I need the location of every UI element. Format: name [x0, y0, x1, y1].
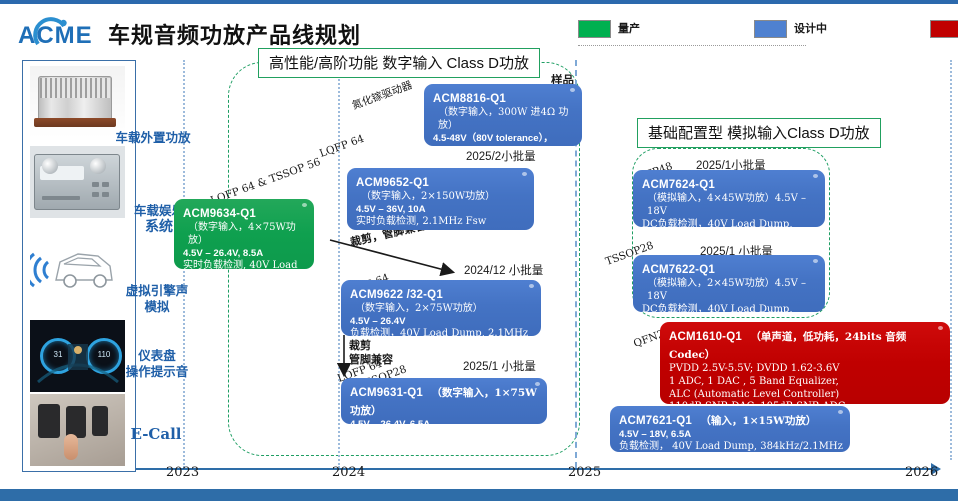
- product-spec-line: （模拟输入，2×45W功放）4.5V – 18V: [642, 278, 818, 304]
- label-line2: 模拟: [144, 299, 169, 314]
- card-gloss: [522, 172, 527, 176]
- card-gloss: [813, 259, 818, 263]
- product-spec-line: （模拟输入，4×45W功放）4.5V – 18V: [642, 193, 818, 219]
- product-part-number: ACM8816-Q1: [433, 93, 506, 105]
- product-part-number: ACM9634-Q1: [183, 208, 256, 220]
- product-part-number: ACM9631-Q1: [350, 387, 423, 399]
- car-radio-photo: [30, 146, 125, 218]
- application-label-external-amp: 车载外置功放: [113, 130, 193, 146]
- product-spec-line: （数字输入，4×75W功放）: [183, 222, 307, 248]
- card-gloss: [570, 88, 575, 92]
- overhead-console-buttons-photo: [30, 394, 125, 466]
- product-spec-line: 4.5V – 18V, 6.5A: [619, 429, 843, 441]
- legend-label: 设计中: [794, 20, 827, 36]
- product-part-number: ACM7624-Q1: [642, 179, 715, 191]
- product-card-acm7621[interactable]: ACM7621-Q1 （输入，1×15W功放） 4.5V – 18V, 6.5A…: [610, 406, 850, 452]
- legend-swatch-blue: [754, 20, 787, 38]
- external-amplifier-photo: [30, 66, 125, 138]
- product-spec-line: 4.5V – 36V, 10A: [356, 204, 527, 216]
- slide-roadmap: ACME 车规音频功放产品线规划 量产 设计中 规划扩展项目 2023 2024…: [0, 0, 958, 501]
- product-part-number: ACM1610-Q1: [669, 331, 742, 343]
- axis-tick-2024: 2024: [332, 465, 365, 480]
- product-part-number: ACM7622-Q1: [642, 264, 715, 276]
- product-spec-line: 负载检测， 40V Load Dump, 384kHz/2.1MHz Fsw: [619, 441, 843, 452]
- card-gloss: [302, 203, 307, 207]
- product-spec-line: 4.5V – 26.4V, 6.5A: [350, 419, 540, 424]
- milestone-2025-01-a: 2025/1 小批量: [463, 358, 536, 374]
- product-card-acm9652[interactable]: ACM9652-Q1 （数字输入，2×150W功放） 4.5V – 36V, 1…: [347, 168, 534, 230]
- product-spec-line: （数字输入，2×75W功放）: [350, 303, 534, 316]
- product-spec-line: 4.5V – 26.4V: [350, 316, 534, 328]
- product-spec-line: 4.5V – 26.4V, 8.5A: [183, 248, 307, 260]
- top-accent-bar: [0, 0, 958, 4]
- gridline-2024: [338, 60, 340, 468]
- card-gloss: [813, 174, 818, 178]
- card-gloss: [938, 326, 943, 330]
- x-axis-line: [135, 468, 935, 470]
- section-title-digital-classd: 高性能/高阶功能 数字输入 Class D功放: [258, 48, 540, 78]
- product-card-acm7624[interactable]: ACM7624-Q1 （模拟输入，4×45W功放）4.5V – 18V DC负载…: [633, 170, 825, 227]
- product-card-acm7622[interactable]: ACM7622-Q1 （模拟输入，2×45W功放）4.5V – 18V DC负载…: [633, 255, 825, 312]
- label-line2: 系统: [145, 219, 173, 235]
- page-title: 车规音频功放产品线规划: [108, 18, 361, 50]
- product-card-acm1610[interactable]: ACM1610-Q1 （单声道，低功耗，24bits 音频Codec） PVDD…: [660, 322, 950, 404]
- product-spec-line: 实时负载检测, 2.1MHz Fsw: [356, 216, 527, 229]
- bottom-accent-bar: [0, 489, 958, 501]
- product-card-acm8816[interactable]: ACM8816-Q1 （数字输入，300W 进4Ω 功放） 4.5-48V（80…: [424, 84, 582, 146]
- application-label-ecall: E-Call: [116, 425, 196, 444]
- product-header-row: ACM7621-Q1 （输入，1×15W功放）: [619, 411, 843, 429]
- car-with-soundwaves-icon: [30, 226, 125, 298]
- legend-label: 量产: [618, 20, 640, 36]
- product-spec-line: DC负载检测，40V Load Dump,: [642, 219, 818, 227]
- product-part-number: ACM9652-Q1: [356, 177, 429, 189]
- product-card-acm9631[interactable]: ACM9631-Q1 （数字输入，1×75W功放） 4.5V – 26.4V, …: [341, 378, 547, 424]
- axis-tick-2025: 2025: [568, 465, 601, 480]
- note-pin-compatible: 管脚兼容: [349, 353, 393, 366]
- gridline-2026: [950, 60, 952, 460]
- product-card-acm9634[interactable]: ACM9634-Q1 （数字输入，4×75W功放） 4.5V – 26.4V, …: [174, 199, 314, 269]
- product-spec-line: 实时负载检测, 40V Load Dump,: [183, 260, 307, 269]
- legend-swatch-green: [578, 20, 611, 38]
- product-part-number: ACM9622 /32-Q1: [350, 289, 443, 301]
- axis-tick-2023: 2023: [166, 465, 199, 480]
- label-line2: 操作提示音: [126, 364, 189, 379]
- product-header-row: ACM9631-Q1 （数字输入，1×75W功放）: [350, 383, 540, 419]
- legend: 量产 设计中 规划扩展项目: [578, 20, 950, 42]
- label-line1: 虚拟引擎声: [126, 283, 189, 298]
- product-spec-line: PVDD 2.5V-5.5V; DVDD 1.62-3.6V: [669, 363, 943, 376]
- label-line1: 仪表盘: [138, 348, 176, 363]
- milestone-2024-12: 2024/12 小批量: [464, 262, 543, 278]
- legend-swatch-red: [930, 20, 958, 38]
- card-gloss: [535, 382, 540, 386]
- axis-tick-2026: 2026: [905, 465, 938, 480]
- application-label-virtual-engine-sound: 虚拟引擎声 模拟: [114, 283, 200, 314]
- product-spec-line: （数字输入，2×150W功放）: [356, 191, 527, 204]
- product-spec-line: 1 ADC, 1 DAC , 5 Band Equalizer,: [669, 376, 943, 389]
- product-spec-line: DC负载检测，40V Load Dump,: [642, 304, 818, 312]
- instrument-cluster-photo: 31 110: [30, 320, 125, 392]
- logo-wordmark: ACME: [18, 22, 93, 50]
- product-part-suffix: （输入，1×15W功放）: [700, 415, 816, 427]
- product-spec-line: （数字输入，300W 进4Ω 功放）: [433, 107, 575, 133]
- product-spec-line: ALC (Automatic Level Controller): [669, 389, 943, 402]
- application-label-cluster-tones: 仪表盘 操作提示音: [112, 348, 202, 379]
- section-title-analog-classd: 基础配置型 模拟输入Class D功放: [637, 118, 881, 148]
- milestone-2025-02: 2025/2小批量: [466, 148, 536, 164]
- card-gloss: [838, 410, 843, 414]
- product-spec-line: 110dB SNR DAC, 105dB SNR ADC: [669, 401, 943, 404]
- note-trim: 裁剪: [349, 339, 371, 352]
- card-gloss: [529, 284, 534, 288]
- legend-divider: [578, 45, 806, 46]
- product-spec-line: 4.5-48V（80V tolerance），5.5mΩ: [433, 133, 575, 146]
- product-card-acm9622-32[interactable]: ACM9622 /32-Q1 （数字输入，2×75W功放） 4.5V – 26.…: [341, 280, 541, 336]
- product-part-number: ACM7621-Q1: [619, 415, 692, 427]
- product-header-row: ACM1610-Q1 （单声道，低功耗，24bits 音频Codec）: [669, 327, 943, 363]
- product-spec-line: 负载检测，40V Load Dump, 2.1MHz Fsw: [350, 328, 534, 336]
